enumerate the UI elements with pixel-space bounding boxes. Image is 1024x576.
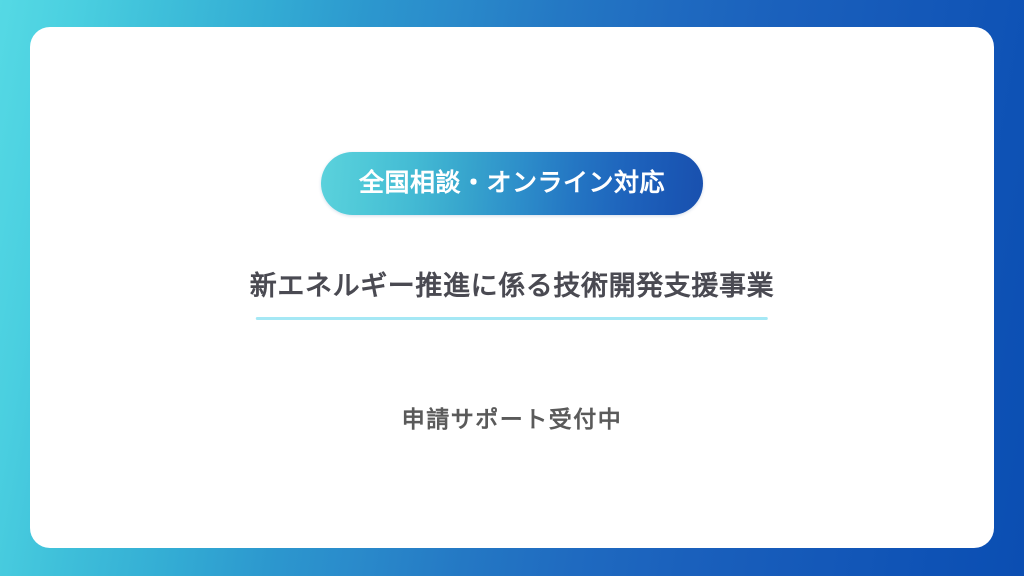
- title-underline-rule: [256, 317, 768, 320]
- title-block: 新エネルギー推進に係る技術開発支援事業: [250, 270, 774, 320]
- card-inner: 全国相談・オンライン対応 新エネルギー推進に係る技術開発支援事業 申請サポート受…: [30, 27, 994, 548]
- slide-canvas: 全国相談・オンライン対応 新エネルギー推進に係る技術開発支援事業 申請サポート受…: [0, 0, 1024, 576]
- content-card: 全国相談・オンライン対応 新エネルギー推進に係る技術開発支援事業 申請サポート受…: [30, 27, 994, 548]
- page-title: 新エネルギー推進に係る技術開発支援事業: [250, 270, 774, 304]
- subtitle-text: 申請サポート受付中: [402, 405, 623, 435]
- status-badge: 全国相談・オンライン対応: [321, 152, 703, 215]
- status-badge-label: 全国相談・オンライン対応: [359, 171, 665, 196]
